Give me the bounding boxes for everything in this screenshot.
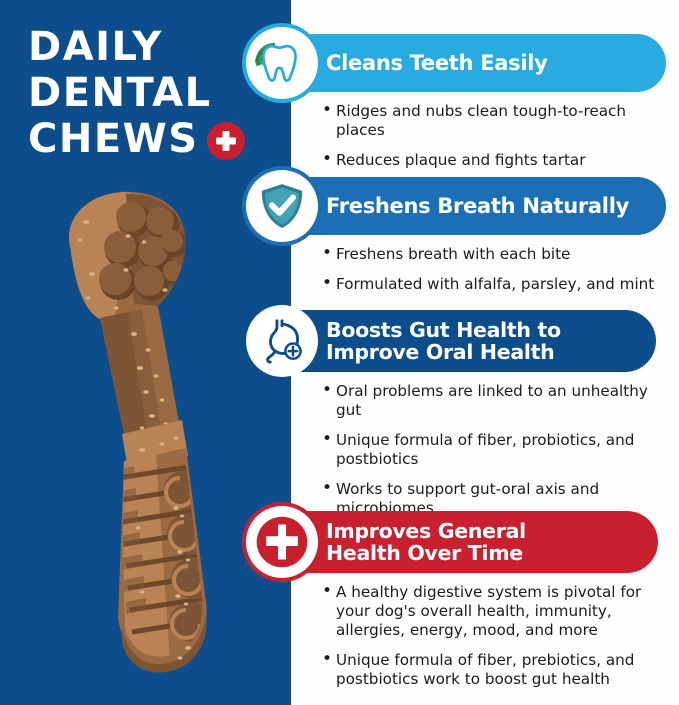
benefit-header-freshens-breath: Freshens Breath Naturally — [248, 177, 666, 235]
benefit-bullets-freshens-breath: Freshens breath with each bite Formulate… — [248, 245, 666, 294]
benefits-list: Cleans Teeth Easily Ridges and nubs clea… — [0, 0, 679, 705]
stomach-plus-icon — [246, 305, 318, 377]
benefit-section-gut-health: Boosts Gut Health to Improve Oral Health… — [248, 310, 656, 518]
list-item: Ridges and nubs clean tough-to-reach pla… — [322, 102, 666, 140]
list-item: Unique formula of fiber, prebiotics, and… — [322, 651, 658, 689]
list-item: Freshens breath with each bite — [322, 245, 666, 264]
shield-checkmark-icon — [246, 170, 318, 242]
list-item: A healthy digestive system is pivotal fo… — [322, 583, 658, 640]
benefit-section-general-health: Improves General Health Over Time A heal… — [248, 511, 658, 689]
benefit-title-line-1: Improves General — [326, 519, 526, 543]
benefit-section-freshens-breath: Freshens Breath Naturally Freshens breat… — [248, 177, 666, 294]
benefit-header-general-health: Improves General Health Over Time — [248, 511, 658, 573]
benefit-bullets-gut-health: Oral problems are linked to an unhealthy… — [248, 382, 656, 518]
benefit-header-cleans-teeth: Cleans Teeth Easily — [248, 34, 666, 92]
benefit-bullets-cleans-teeth: Ridges and nubs clean tough-to-reach pla… — [248, 102, 666, 170]
list-item: Reduces plaque and fights tartar — [322, 151, 666, 170]
tooth-mint-leaf-icon — [246, 27, 318, 99]
list-item: Oral problems are linked to an unhealthy… — [322, 382, 656, 420]
benefit-bullets-general-health: A healthy digestive system is pivotal fo… — [248, 583, 658, 689]
infographic-page: Daily Dental Chews — [0, 0, 679, 705]
benefit-section-cleans-teeth: Cleans Teeth Easily Ridges and nubs clea… — [248, 34, 666, 170]
benefit-title-line-1: Boosts Gut Health to — [326, 318, 561, 342]
list-item: Formulated with alfalfa, parsley, and mi… — [322, 275, 666, 294]
list-item: Unique formula of fiber, probiotics, and… — [322, 431, 656, 469]
benefit-header-gut-health: Boosts Gut Health to Improve Oral Health — [248, 310, 656, 372]
benefit-title-general-health: Improves General Health Over Time — [326, 520, 526, 564]
benefit-title-line-2: Improve Oral Health — [326, 340, 554, 364]
benefit-title-gut-health: Boosts Gut Health to Improve Oral Health — [326, 319, 561, 363]
benefit-title-cleans-teeth: Cleans Teeth Easily — [326, 52, 548, 75]
medical-cross-circle-icon — [246, 506, 318, 578]
benefit-title-freshens-breath: Freshens Breath Naturally — [326, 195, 629, 218]
benefit-title-line-2: Health Over Time — [326, 541, 523, 565]
